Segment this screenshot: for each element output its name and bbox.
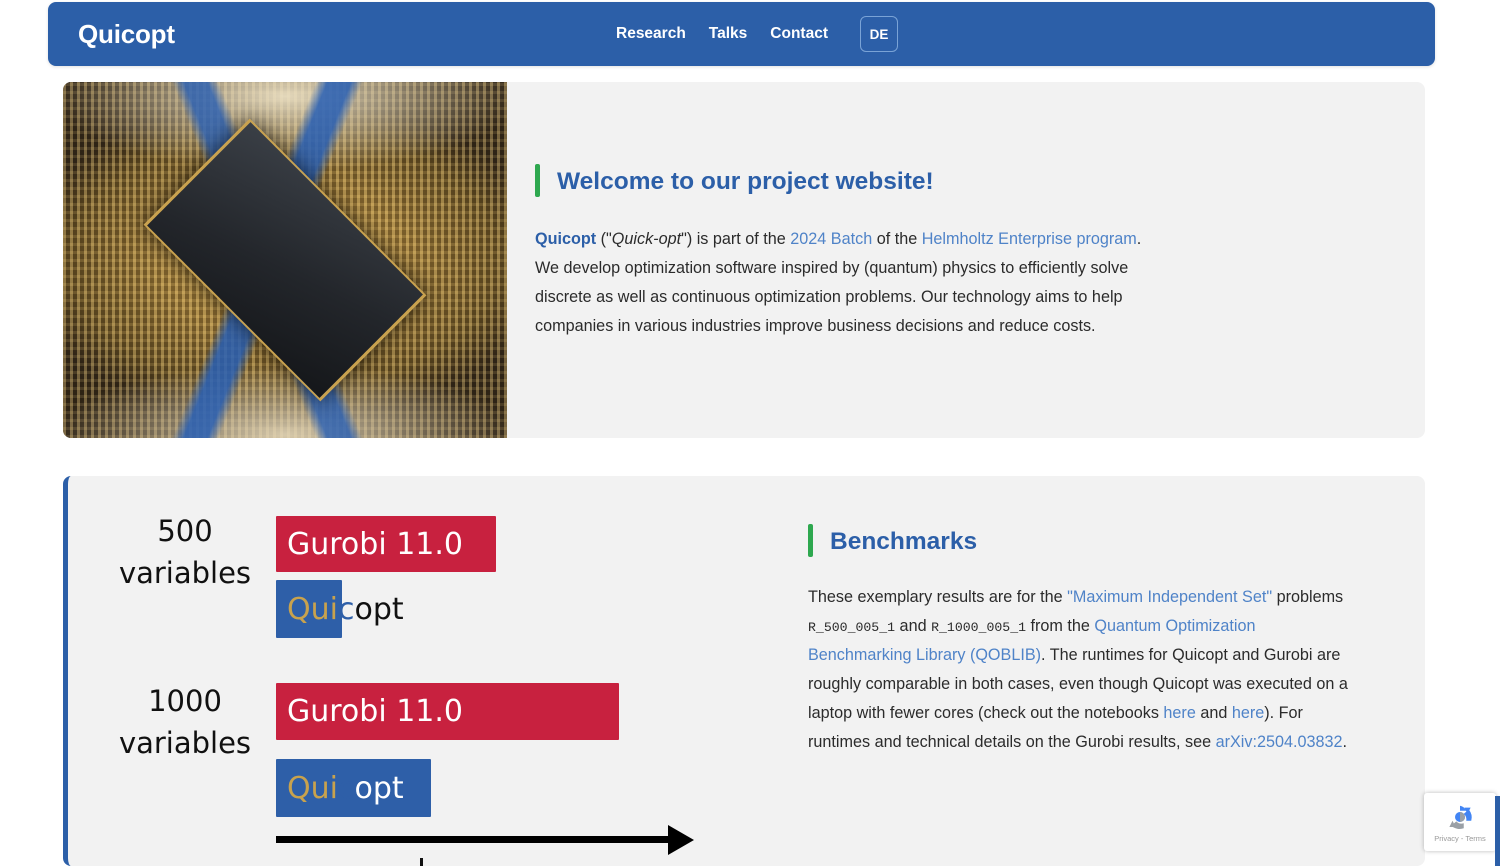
language-switch-button[interactable]: DE: [860, 16, 898, 52]
chart-category-label-500-line2: variables: [90, 552, 280, 594]
chart-category-label-1000-line1: 1000: [90, 680, 280, 722]
benchmark-bar-chart: 500 variables Gurobi 11.0 Quicopt 1000 v…: [68, 476, 808, 866]
link-notebook-here-1[interactable]: here: [1163, 704, 1195, 722]
benchmarks-card: 500 variables Gurobi 11.0 Quicopt 1000 v…: [63, 476, 1425, 866]
hero-chip-image: [63, 82, 507, 438]
welcome-alias: Quick-opt: [612, 230, 681, 248]
welcome-brand-mention: Quicopt: [535, 230, 596, 248]
chart-category-label-1000: 1000 variables: [90, 680, 280, 764]
chart-bar-label-gurobi-500: Gurobi 11.0: [276, 527, 463, 562]
chart-bar-quicopt-500: Quicopt: [276, 580, 342, 638]
link-helmholtz-enterprise-program[interactable]: Helmholtz Enterprise program: [922, 230, 1137, 248]
chip-die-graphic: [144, 119, 427, 402]
nav-link-talks[interactable]: Talks: [709, 25, 748, 43]
welcome-heading-row: Welcome to our project website!: [535, 164, 1365, 197]
quicopt-label-qui-500: Qui: [287, 592, 338, 627]
bench-text-3: and: [895, 617, 931, 635]
main-navigation: Research Talks Contact DE: [616, 2, 898, 66]
link-arxiv-paper[interactable]: arXiv:2504.03832: [1216, 733, 1343, 751]
quicopt-label-opt-500: opt: [354, 592, 403, 627]
welcome-title: Welcome to our project website!: [557, 164, 934, 197]
welcome-mid-text: of the: [872, 230, 922, 248]
link-2024-batch[interactable]: 2024 Batch: [790, 230, 872, 248]
link-notebook-here-2[interactable]: here: [1232, 704, 1264, 722]
benchmarks-content: Benchmarks These exemplary results are f…: [808, 476, 1425, 866]
recaptcha-icon: [1445, 802, 1475, 832]
bench-text-8: .: [1343, 733, 1348, 751]
bench-code-r1000: R_1000_005_1: [931, 620, 1026, 635]
brand-logo[interactable]: Quicopt: [78, 19, 175, 50]
quicopt-label-c-500: c: [338, 592, 355, 627]
quicopt-label-qui-1000: Qui: [287, 771, 338, 806]
chart-bar-label-quicopt-500: Quicopt: [276, 592, 404, 627]
chart-category-label-500-line1: 500: [90, 510, 280, 552]
bench-code-r500: R_500_005_1: [808, 620, 895, 635]
bench-text-2: problems: [1272, 588, 1343, 606]
nav-link-contact[interactable]: Contact: [770, 25, 828, 43]
quicopt-label-c-1000: c: [338, 771, 355, 806]
link-maximum-independent-set[interactable]: "Maximum Independent Set": [1067, 588, 1272, 606]
page-root: Quicopt Research Talks Contact DE Welcom…: [0, 0, 1500, 866]
benchmarks-title: Benchmarks: [830, 524, 977, 557]
chart-axis-line: [276, 836, 668, 843]
bench-text-1: These exemplary results are for the: [808, 588, 1067, 606]
chart-axis-tick: [420, 858, 423, 866]
benchmarks-paragraph: These exemplary results are for the "Max…: [808, 583, 1353, 756]
recaptcha-terms-text[interactable]: Privacy - Terms: [1434, 834, 1486, 843]
quicopt-label-opt-1000: opt: [354, 771, 403, 806]
chart-bar-label-quicopt-1000: Quicopt: [276, 771, 404, 806]
accent-bar-green: [535, 164, 540, 197]
site-header: Quicopt Research Talks Contact DE: [48, 2, 1435, 66]
bench-text-4: from the: [1026, 617, 1094, 635]
welcome-open-quote: (": [596, 230, 612, 248]
welcome-content: Welcome to our project website! Quicopt …: [507, 82, 1425, 438]
chart-bar-quicopt-1000: Quicopt: [276, 759, 431, 817]
chart-bar-gurobi-1000: Gurobi 11.0: [276, 683, 619, 740]
welcome-paragraph: Quicopt ("Quick-opt") is part of the 202…: [535, 225, 1155, 340]
chart-bar-gurobi-500: Gurobi 11.0: [276, 516, 496, 572]
benchmarks-heading-row: Benchmarks: [808, 524, 1353, 557]
scrollbar-edge[interactable]: [1495, 796, 1500, 866]
bench-text-6: and: [1196, 704, 1232, 722]
accent-bar-green: [808, 524, 813, 557]
benchmarks-layout: 500 variables Gurobi 11.0 Quicopt 1000 v…: [68, 476, 1425, 866]
welcome-card: Welcome to our project website! Quicopt …: [63, 82, 1425, 438]
chart-category-label-500: 500 variables: [90, 510, 280, 594]
recaptcha-badge[interactable]: Privacy - Terms: [1424, 793, 1496, 851]
nav-link-research[interactable]: Research: [616, 25, 686, 43]
chart-bar-label-gurobi-1000: Gurobi 11.0: [276, 694, 463, 729]
welcome-close-quote: ") is part of the: [681, 230, 790, 248]
chart-axis-arrowhead: [668, 825, 694, 855]
chart-category-label-1000-line2: variables: [90, 722, 280, 764]
